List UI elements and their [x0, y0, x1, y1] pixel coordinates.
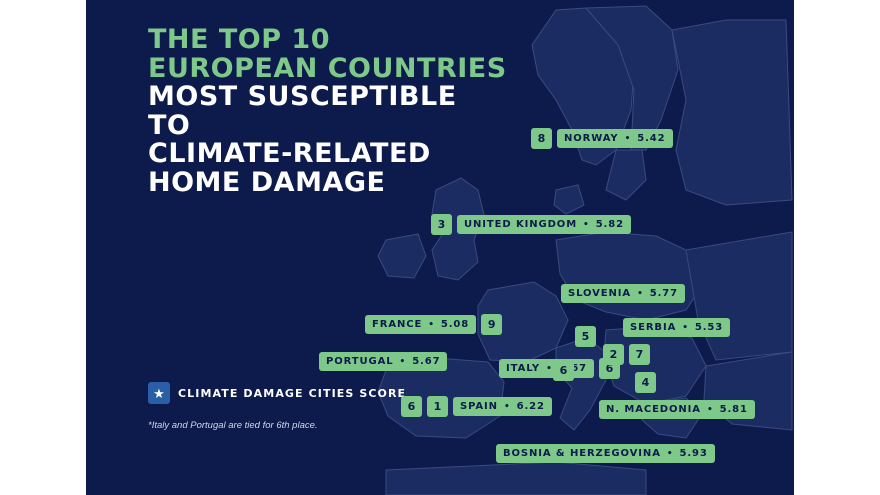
marker-united-kingdom-rank: 3 [431, 214, 452, 235]
title-line-1: THE TOP 10 [148, 26, 508, 55]
marker-france-dot: • [428, 320, 435, 330]
map-panel: THE TOP 10 EUROPEAN COUNTRIES MOST SUSCE… [86, 0, 794, 495]
marker-spain-chip: SPAIN • 6.22 [453, 397, 552, 416]
legend-label: CLIMATE DAMAGE CITIES SCORE [178, 387, 406, 400]
marker-serbia-dot: • [682, 323, 689, 333]
marker-norway-country: NORWAY [564, 133, 619, 144]
marker-norway-dot: • [625, 134, 632, 144]
pin-italy-rank[interactable]: 6 [553, 360, 574, 381]
marker-serbia[interactable]: SERBIA • 5.53 [623, 318, 730, 337]
marker-serbia-country: SERBIA [630, 322, 676, 333]
marker-n-macedonia[interactable]: N. MACEDONIA • 5.81 [599, 400, 755, 419]
marker-n-macedonia-score: 5.81 [720, 404, 748, 415]
marker-portugal-score: 5.67 [412, 356, 440, 367]
marker-spain-dot: • [504, 402, 511, 412]
marker-united-kingdom-country: UNITED KINGDOM [464, 219, 577, 230]
page-title: THE TOP 10 EUROPEAN COUNTRIES MOST SUSCE… [148, 26, 508, 198]
marker-norway-rank: 8 [531, 128, 552, 149]
marker-france-country: FRANCE [372, 319, 422, 330]
marker-portugal[interactable]: PORTUGAL • 5.67 [319, 352, 447, 371]
marker-slovenia[interactable]: SLOVENIA • 5.77 [561, 284, 685, 303]
marker-portugal-chip: PORTUGAL • 5.67 [319, 352, 447, 371]
legend-footnote: *Italy and Portugal are tied for 6th pla… [148, 420, 478, 431]
marker-norway-chip: NORWAY • 5.42 [557, 129, 673, 148]
marker-italy-dot: • [546, 364, 553, 374]
marker-serbia-chip: SERBIA • 5.53 [623, 318, 730, 337]
marker-spain-score: 6.22 [517, 401, 545, 412]
marker-slovenia-score: 5.77 [650, 288, 678, 299]
marker-slovenia-country: SLOVENIA [568, 288, 631, 299]
marker-portugal-country: PORTUGAL [326, 356, 394, 367]
marker-bosnia-herzegovina-chip: BOSNIA & HERZEGOVINA • 5.93 [496, 444, 715, 463]
pin-macedonia-rank[interactable]: 4 [635, 372, 656, 393]
marker-spain-country: SPAIN [460, 401, 498, 412]
marker-bosnia-herzegovina-score: 5.93 [680, 448, 708, 459]
star-icon: ★ [148, 382, 170, 404]
marker-bosnia-herzegovina-country: BOSNIA & HERZEGOVINA [503, 448, 661, 459]
marker-portugal-dot: • [400, 357, 407, 367]
infographic-map: THE TOP 10 EUROPEAN COUNTRIES MOST SUSCE… [0, 0, 880, 495]
title-line-2: EUROPEAN COUNTRIES [148, 55, 508, 84]
marker-france[interactable]: FRANCE • 5.08 9 [365, 314, 502, 335]
marker-france-score: 5.08 [441, 319, 469, 330]
marker-bosnia-herzegovina[interactable]: BOSNIA & HERZEGOVINA • 5.93 [496, 444, 715, 463]
marker-italy-country: ITALY [506, 363, 540, 374]
marker-united-kingdom[interactable]: 3 UNITED KINGDOM • 5.82 [431, 214, 631, 235]
marker-spain[interactable]: 6 1 SPAIN • 6.22 [401, 396, 552, 417]
marker-n-macedonia-dot: • [707, 405, 714, 415]
pin-bosnia-rank[interactable]: 2 [603, 344, 624, 365]
marker-france-rank: 9 [481, 314, 502, 335]
title-line-5: HOME DAMAGE [148, 169, 508, 198]
marker-serbia-score: 5.53 [695, 322, 723, 333]
marker-spain-rank-tied: 6 [401, 396, 422, 417]
marker-norway-score: 5.42 [637, 133, 665, 144]
marker-norway[interactable]: 8 NORWAY • 5.42 [531, 128, 673, 149]
marker-bosnia-herzegovina-dot: • [667, 449, 674, 459]
marker-france-chip: FRANCE • 5.08 [365, 315, 476, 334]
marker-slovenia-dot: • [637, 289, 644, 299]
marker-n-macedonia-country: N. MACEDONIA [606, 404, 701, 415]
marker-spain-rank: 1 [427, 396, 448, 417]
marker-n-macedonia-chip: N. MACEDONIA • 5.81 [599, 400, 755, 419]
marker-united-kingdom-score: 5.82 [596, 219, 624, 230]
marker-united-kingdom-dot: • [583, 220, 590, 230]
title-line-4: CLIMATE-RELATED [148, 140, 508, 169]
marker-italy-chip: ITALY • 5.67 [499, 359, 594, 378]
pin-slovenia-rank[interactable]: 5 [575, 326, 596, 347]
pin-serbia-rank[interactable]: 7 [629, 344, 650, 365]
title-line-3: MOST SUSCEPTIBLE TO [148, 83, 508, 140]
marker-united-kingdom-chip: UNITED KINGDOM • 5.82 [457, 215, 631, 234]
marker-slovenia-chip: SLOVENIA • 5.77 [561, 284, 685, 303]
